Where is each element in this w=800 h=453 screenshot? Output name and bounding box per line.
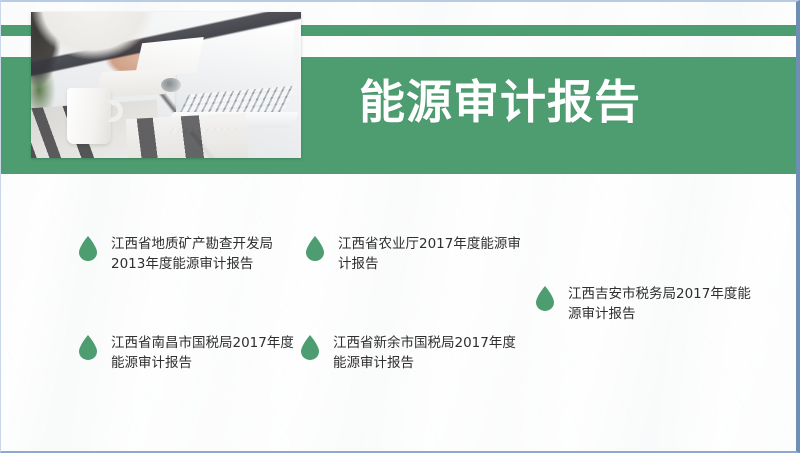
list-item-label: 江西省新余市国税局2017年度能源审计报告: [333, 333, 516, 373]
list-item[interactable]: 江西省新余市国税局2017年度能源审计报告: [301, 333, 516, 373]
leaf-icon: [536, 286, 554, 311]
leaf-icon: [79, 236, 97, 261]
list-item[interactable]: 江西省地质矿产勘查开发局2013年度能源审计报告: [79, 234, 294, 274]
coffee-mug: [67, 88, 111, 144]
leaf-icon: [79, 335, 97, 360]
magazine-front: [126, 113, 248, 158]
leaf-icon: [301, 335, 319, 360]
list-item[interactable]: 江西省农业厅2017年度能源审计报告: [306, 234, 521, 274]
list-item[interactable]: 江西吉安市税务局2017年度能源审计报告: [536, 284, 756, 324]
hero-photo: [31, 12, 301, 158]
list-item-label: 江西省南昌市国税局2017年度能源审计报告: [111, 333, 294, 373]
circular-chart-detail: [161, 78, 181, 92]
slide-title: 能源审计报告: [359, 78, 641, 126]
leaf-icon: [306, 236, 324, 261]
list-item-label: 江西省地质矿产勘查开发局2013年度能源审计报告: [111, 234, 294, 274]
presentation-slide: 能源审计报告 江西省地质矿产勘查开发局2013年度能源审计报告 江西省农业厅20…: [0, 0, 800, 453]
list-item-label: 江西吉安市税务局2017年度能源审计报告: [568, 284, 756, 324]
list-item[interactable]: 江西省南昌市国税局2017年度能源审计报告: [79, 333, 294, 373]
list-item-label: 江西省农业厅2017年度能源审计报告: [338, 234, 521, 274]
